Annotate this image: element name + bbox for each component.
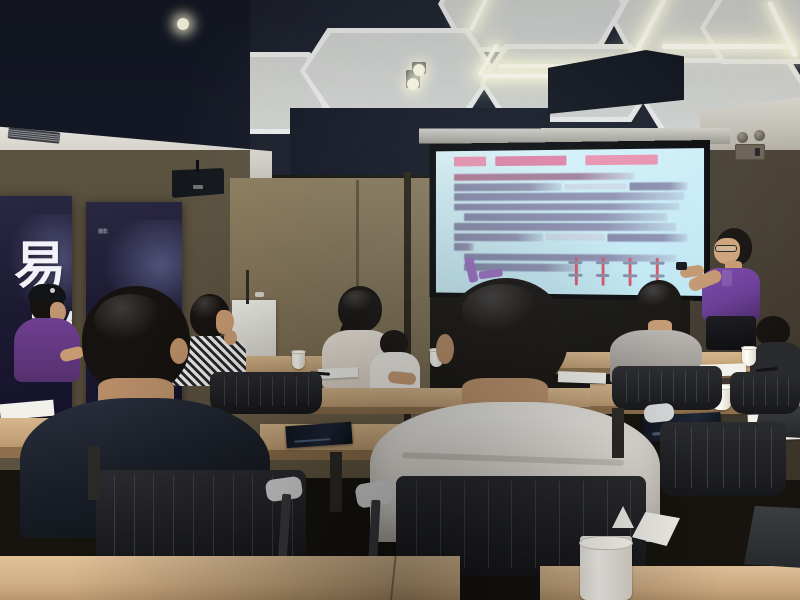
chair-arm-stem [368,500,380,558]
slide-body-line [454,193,685,201]
paper-cup[interactable] [292,350,305,369]
meeting-room-photo: 易 群 摄影 [0,0,800,600]
dark-brochure[interactable] [285,422,352,449]
table-leg [88,446,100,500]
slide-body-line [454,233,543,241]
wall-control-plate [735,144,765,160]
slide-body-line [607,234,687,242]
paper-cup[interactable] [580,536,632,600]
wall-control-knob [737,132,748,143]
slide-body-line [454,223,676,231]
heading-highlight [585,155,658,165]
slide-body-line [629,182,687,190]
conference-table [540,566,800,600]
slide-heading [454,153,693,168]
led-light-strip [662,44,794,49]
mesh-office-chair[interactable] [730,372,800,414]
slide-body-line [454,172,635,181]
table-leg [612,408,624,458]
presenter [694,228,772,346]
banner-tag: 摄影 [98,228,108,235]
ceiling-downlight [412,62,426,74]
presentation-slide [436,148,704,296]
trousers [706,316,756,350]
polo-placket [722,270,732,286]
slide-body-line [454,203,679,211]
slide-redacted-block [564,183,626,190]
glasses-icon [715,245,737,252]
heading-highlight [454,157,486,167]
slide-redacted-block [546,234,605,240]
hair-highlight [94,294,166,346]
speaker-mount-bracket [196,160,199,172]
ceiling-mounted-speaker [172,168,224,198]
plate-switch[interactable] [755,148,760,156]
ear [170,338,188,364]
wall-control-knob [754,130,765,141]
mesh-office-chair[interactable] [660,422,786,496]
slide-body-line [454,243,475,250]
table-leg [330,452,342,512]
ear [436,334,454,364]
hex-ceiling-panel [300,28,496,114]
hair-highlight [462,284,542,336]
laptop[interactable] [744,506,800,568]
presentation-clicker[interactable] [676,262,687,270]
slide-body-line [464,213,668,221]
slide-body-line [454,183,562,191]
projection-screen[interactable] [430,140,710,301]
heading-highlight [495,156,566,166]
ceiling-downlight [176,2,190,28]
